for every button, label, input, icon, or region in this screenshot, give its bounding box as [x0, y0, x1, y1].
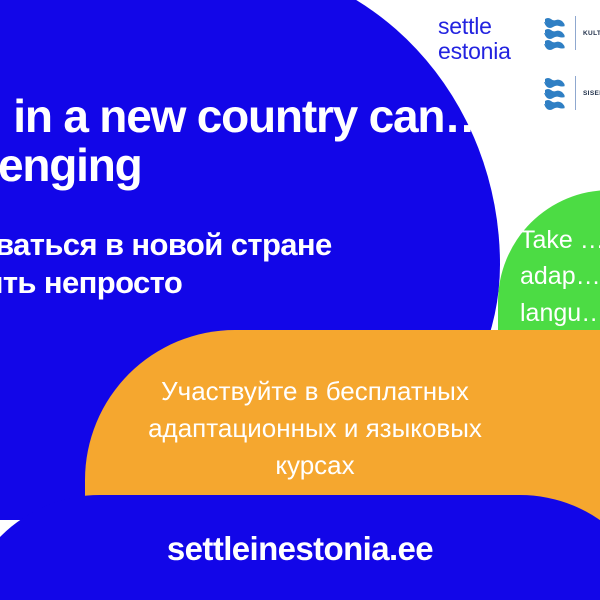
estonian-coat-of-arms-icon: [542, 16, 568, 50]
green-callout-text: Take … adap… langu…: [520, 222, 600, 331]
logo-divider: [575, 16, 576, 50]
orange-callout-text: Участвуйте в бесплатных адаптационных и …: [95, 373, 535, 484]
logo-strip: settle estonia: [438, 8, 600, 123]
website-url[interactable]: settleinestonia.ee: [0, 530, 600, 568]
ministry-of-interior-logo: Sisem…: [542, 76, 600, 110]
ministry-of-culture-label: Kultuu…: [583, 30, 600, 37]
settle-estonia-logo[interactable]: settle estonia: [438, 14, 511, 64]
logo-divider: [575, 76, 576, 110]
ministry-of-culture-logo: Kultuu…: [542, 16, 600, 50]
ministry-of-interior-label: Sisem…: [583, 90, 600, 97]
subheadline-russian: …роваться в новой стране …быть непросто: [0, 226, 568, 302]
estonian-coat-of-arms-icon: [542, 76, 568, 110]
poster-canvas: …g in a new country can… …llenging …рова…: [0, 0, 600, 600]
